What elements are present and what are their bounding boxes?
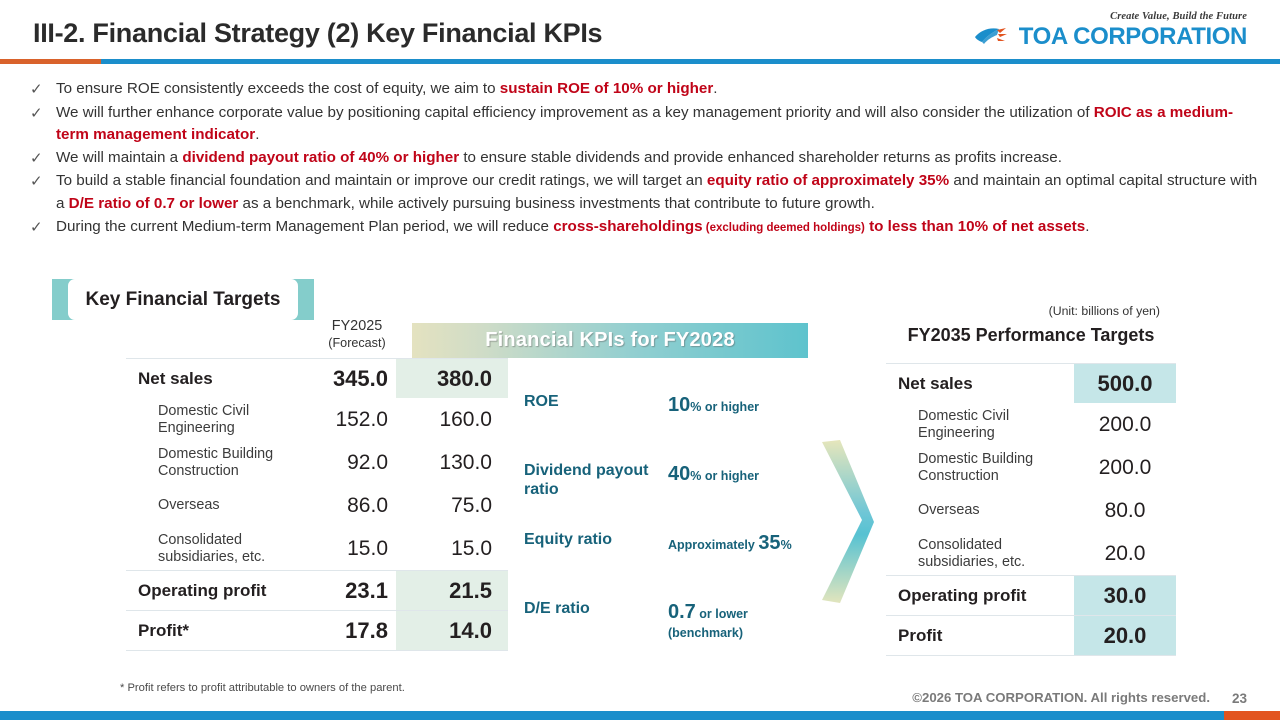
kpi-value: Approximately 35% [668, 532, 792, 555]
footer-rule-blue [0, 711, 1224, 720]
bullet-highlight: D/E ratio of 0.7 or lower [69, 195, 239, 212]
bullet-span: To ensure ROE consistently exceeds the c… [56, 80, 500, 97]
check-icon: ✓ [30, 147, 56, 171]
cell-fy2035: 30.0 [1074, 576, 1176, 615]
row-label: Overseas [886, 502, 1074, 519]
check-icon: ✓ [30, 216, 56, 240]
table-row: Domestic Civil Engineering200.0 [886, 403, 1176, 446]
kpi-name: Equity ratio [524, 530, 664, 549]
bullet-highlight: dividend payout ratio of 40% or higher [182, 149, 459, 166]
row-label: Consolidated subsidiaries, etc. [886, 537, 1074, 571]
cell-fy2035: 500.0 [1074, 364, 1176, 403]
bullet-span: We will maintain a [56, 149, 182, 166]
cell-fy2035: 200.0 [1074, 403, 1176, 446]
bullet-highlight: sustain ROE of 10% or higher [500, 80, 714, 97]
check-icon: ✓ [30, 102, 56, 126]
table-row: Operating profit23.121.5 [126, 571, 508, 610]
table-row: Profit*17.814.0 [126, 611, 508, 650]
kpi-name: ROE [524, 392, 664, 411]
bullet-text: We will further enhance corporate value … [56, 102, 1262, 147]
row-label: Operating profit [886, 586, 1074, 606]
copyright-text: ©2026 TOA CORPORATION. All rights reserv… [912, 690, 1210, 705]
row-label: Operating profit [126, 581, 292, 601]
row-label: Domestic Civil Engineering [886, 408, 1074, 442]
kpi-value-prefix: Approximately [668, 538, 758, 552]
cell-fy2028: 21.5 [396, 571, 508, 610]
key-financial-targets-tag: Key Financial Targets [52, 279, 314, 320]
row-label: Profit* [126, 621, 292, 641]
cell-fy2025: 345.0 [292, 366, 396, 392]
bullet-highlight: equity ratio of approximately 35% [707, 172, 949, 189]
kpi-value-number: 35 [758, 532, 780, 554]
company-logo: Create Value, Build the Future TOA CORPO… [973, 11, 1247, 49]
kpi-value: 10% or higher [668, 394, 759, 417]
row-label: Net sales [886, 374, 1074, 394]
table-divider [126, 650, 508, 651]
row-label: Domestic Building Construction [126, 446, 292, 480]
tag-label: Key Financial Targets [86, 289, 281, 311]
logo-wordmark: TOA CORPORATION [1019, 25, 1247, 49]
bullet-list: ✓To ensure ROE consistently exceeds the … [30, 78, 1262, 239]
table-row: Net sales500.0 [886, 364, 1176, 403]
unit-note: (Unit: billions of yen) [1049, 304, 1160, 318]
kpi-value-number: 10 [668, 394, 690, 416]
bullet-item: ✓During the current Medium-term Manageme… [30, 216, 1262, 240]
row-label: Overseas [126, 497, 292, 514]
cell-fy2028: 160.0 [396, 398, 508, 441]
kpi-banner-label: Financial KPIs for FY2028 [485, 329, 735, 352]
row-label: Profit [886, 626, 1074, 646]
slide-root: III-2. Financial Strategy (2) Key Financ… [0, 0, 1280, 720]
fy2025-forecast-label: (Forecast) [328, 336, 385, 350]
bullet-span: . [713, 80, 717, 97]
right-financial-table: Net sales500.0Domestic Civil Engineering… [886, 363, 1176, 656]
toa-bird-icon [973, 24, 1013, 49]
header-rule-orange [0, 59, 101, 64]
bullet-span: as a benchmark, while actively pursuing … [238, 195, 875, 212]
table-divider [886, 655, 1176, 656]
bullet-highlight: (excluding deemed holdings) [703, 222, 865, 234]
kpi-value-unit: or lower [696, 607, 748, 621]
cell-fy2028: 14.0 [396, 611, 508, 650]
bullet-item: ✓To ensure ROE consistently exceeds the … [30, 78, 1262, 102]
left-col-header-fy2025: FY2025 (Forecast) [302, 318, 412, 352]
bullet-highlight: cross-shareholdings [553, 218, 702, 235]
bullet-span: . [255, 126, 259, 143]
cell-fy2035: 20.0 [1074, 616, 1176, 655]
table-row: Overseas86.075.0 [126, 484, 508, 527]
table-row: Domestic Building Construction92.0130.0 [126, 441, 508, 484]
left-table-body: Net sales345.0380.0Domestic Civil Engine… [126, 358, 508, 651]
cell-fy2028: 380.0 [396, 359, 508, 398]
check-icon: ✓ [30, 170, 56, 194]
cell-fy2035: 80.0 [1074, 489, 1176, 532]
kpi-value-unit: % or higher [690, 400, 759, 414]
bullet-text: To ensure ROE consistently exceeds the c… [56, 78, 1262, 101]
cell-fy2028: 15.0 [396, 527, 508, 570]
cell-fy2035: 20.0 [1074, 532, 1176, 575]
kpi-item: D/E ratio0.7 or lower(benchmark) [524, 599, 824, 668]
row-label: Domestic Building Construction [886, 451, 1074, 485]
right-table-title: FY2035 Performance Targets [886, 325, 1176, 346]
row-label: Domestic Civil Engineering [126, 403, 292, 437]
row-label: Net sales [126, 369, 292, 389]
table-row: Domestic Building Construction200.0 [886, 446, 1176, 489]
table-row: Operating profit30.0 [886, 576, 1176, 615]
kpi-name: Dividend payout ratio [524, 461, 664, 499]
check-icon: ✓ [30, 78, 56, 102]
table-row: Net sales345.0380.0 [126, 359, 508, 398]
cell-fy2025: 92.0 [292, 451, 396, 475]
page-title: III-2. Financial Strategy (2) Key Financ… [33, 18, 602, 49]
table-row: Profit20.0 [886, 616, 1176, 655]
bullet-text: During the current Medium-term Managemen… [56, 216, 1262, 240]
footer-rule-orange [1224, 711, 1280, 720]
fy2025-label: FY2025 [332, 318, 382, 334]
bullet-item: ✓We will further enhance corporate value… [30, 102, 1262, 147]
kpi-value: 0.7 or lower(benchmark) [668, 601, 748, 640]
kpi-value-note: (benchmark) [668, 626, 748, 640]
table-row: Overseas80.0 [886, 489, 1176, 532]
kpi-item: Dividend payout ratio40% or higher [524, 461, 824, 530]
bullet-text: To build a stable financial foundation a… [56, 170, 1262, 215]
page-number: 23 [1232, 691, 1247, 706]
left-table-header: FY2025 (Forecast) [126, 318, 508, 358]
bullet-span: We will further enhance corporate value … [56, 104, 1094, 121]
kpi-value-number: 40 [668, 463, 690, 485]
cell-fy2035: 200.0 [1074, 446, 1176, 489]
row-label: Consolidated subsidiaries, etc. [126, 532, 292, 566]
cell-fy2025: 23.1 [292, 578, 396, 604]
bullet-span: To build a stable financial foundation a… [56, 172, 707, 189]
right-table-body: Net sales500.0Domestic Civil Engineering… [886, 363, 1176, 656]
kpi-value-number: 0.7 [668, 601, 696, 623]
kpi-item: ROE10% or higher [524, 392, 824, 461]
cell-fy2028: 130.0 [396, 441, 508, 484]
kpi-value-unit: % [781, 538, 792, 552]
header-rule-blue [101, 59, 1280, 64]
bullet-span: During the current Medium-term Managemen… [56, 218, 553, 235]
kpi-value: 40% or higher [668, 463, 759, 486]
footnote: * Profit refers to profit attributable t… [120, 682, 405, 694]
cell-fy2025: 17.8 [292, 618, 396, 644]
cell-fy2028: 75.0 [396, 484, 508, 527]
cell-fy2025: 152.0 [292, 408, 396, 432]
table-row: Consolidated subsidiaries, etc.20.0 [886, 532, 1176, 575]
left-financial-table: FY2025 (Forecast) Net sales345.0380.0Dom… [126, 318, 508, 651]
chevron-arrow-icon [818, 440, 878, 605]
table-row: Domestic Civil Engineering152.0160.0 [126, 398, 508, 441]
bullet-item: ✓To build a stable financial foundation … [30, 170, 1262, 215]
kpi-item: Equity ratioApproximately 35% [524, 530, 824, 599]
cell-fy2025: 15.0 [292, 537, 396, 561]
bullet-span: . [1085, 218, 1089, 235]
logo-tagline: Create Value, Build the Future [973, 11, 1247, 22]
bullet-highlight: to less than 10% of net assets [865, 218, 1085, 235]
cell-fy2025: 86.0 [292, 494, 396, 518]
table-row: Consolidated subsidiaries, etc.15.015.0 [126, 527, 508, 570]
kpi-value-unit: % or higher [690, 469, 759, 483]
kpi-name: D/E ratio [524, 599, 664, 618]
kpi-list: ROE10% or higherDividend payout ratio40%… [524, 392, 824, 668]
bullet-span: to ensure stable dividends and provide e… [459, 149, 1062, 166]
bullet-item: ✓We will maintain a dividend payout rati… [30, 147, 1262, 171]
bullet-text: We will maintain a dividend payout ratio… [56, 147, 1262, 170]
